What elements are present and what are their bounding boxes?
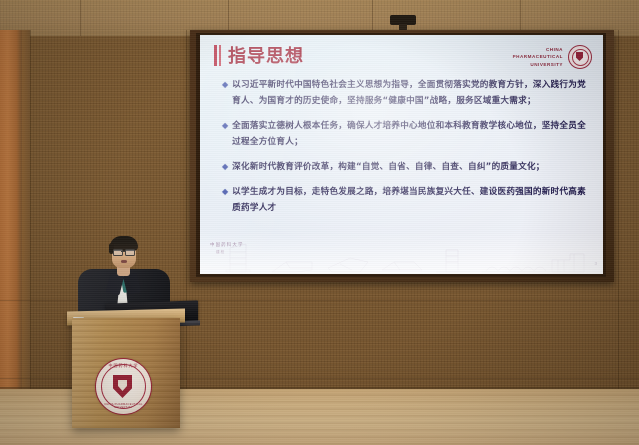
list-item: ◆ 全面落实立德树人根本任务，确保人才培养中心地位和本科教育教学核心地位，坚持全… (222, 118, 587, 150)
lectern-university-emblem: 中国药科大学 CHINA PHARMACEUTICAL UNIVERSITY (95, 358, 152, 415)
ceiling-camera-icon (390, 15, 416, 25)
brand-line-2: PHARMACEUTICAL (513, 53, 563, 60)
campus-skyline-watermark (200, 228, 603, 274)
diamond-bullet-icon: ◆ (222, 159, 228, 174)
list-item: ◆ 深化新时代教育评价改革，构建“自觉、自省、自律、自查、自纠”的质量文化； (222, 159, 587, 175)
wall-seam (80, 0, 81, 36)
list-item: ◆ 以习近平新时代中国特色社会主义思想为指导，全面贯彻落实党的教育方针，深入践行… (222, 77, 587, 109)
eyeglasses-bridge (121, 251, 125, 252)
list-item-text: 全面落实立德树人根本任务，确保人才培养中心地位和本科教育教学核心地位，坚持全员全… (232, 118, 587, 150)
projection-screen: 指导思想 CHINA PHARMACEUTICAL UNIVERSITY ◆ 以… (200, 35, 603, 274)
wall-panel-seam (186, 30, 187, 425)
slide-bullet-list: ◆ 以习近平新时代中国特色社会主义思想为指导，全面贯彻落实党的教育方针，深入践行… (222, 77, 587, 225)
watermark-name: 中国药科大学 (210, 242, 244, 248)
emblem-bottom-text: CHINA PHARMACEUTICAL UNIVERSITY (96, 403, 151, 409)
watermark-subtext: 建校 (216, 250, 225, 255)
list-item-text: 深化新时代教育评价改革，构建“自觉、自省、自律、自查、自纠”的质量文化； (232, 159, 545, 175)
list-item-text: 以学生成才为目标，走特色发展之路，培养堪当民族复兴大任、建设医药强国的新时代高素… (232, 184, 587, 216)
emblem-shield-icon (113, 375, 132, 398)
wall-accent-strip-shadow (22, 30, 30, 425)
list-item-text: 以习近平新时代中国特色社会主义思想为指导，全面贯彻落实党的教育方针，深入践行为党… (232, 77, 587, 109)
diamond-bullet-icon: ◆ (222, 184, 228, 199)
wall-panel-seam (30, 30, 31, 425)
wall-panel-seam (618, 30, 619, 425)
diamond-bullet-icon: ◆ (222, 77, 228, 92)
university-brand: CHINA PHARMACEUTICAL UNIVERSITY (513, 45, 592, 69)
diamond-bullet-icon: ◆ (222, 118, 228, 133)
presentation-slide: 指导思想 CHINA PHARMACEUTICAL UNIVERSITY ◆ 以… (200, 35, 603, 274)
slide-page-number: 3 (594, 261, 597, 266)
brand-text-block: CHINA PHARMACEUTICAL UNIVERSITY (513, 46, 563, 67)
lecture-hall-photo: 指导思想 CHINA PHARMACEUTICAL UNIVERSITY ◆ 以… (0, 0, 639, 445)
list-item: ◆ 以学生成才为目标，走特色发展之路，培养堪当民族复兴大任、建设医药强国的新时代… (222, 184, 587, 216)
emblem-top-text: 中国药科大学 (96, 363, 151, 369)
speaker-mouth (121, 260, 127, 263)
brand-line-3: UNIVERSITY (513, 61, 563, 68)
title-accent-bars (214, 45, 221, 66)
slide-title-row: 指导思想 (214, 42, 304, 68)
screen-bottom-glare (200, 232, 603, 274)
eyeglasses-right-lens (125, 249, 135, 256)
wall-accent-strip (0, 30, 22, 425)
brand-line-1: CHINA (513, 46, 563, 53)
page-title: 指导思想 (228, 42, 304, 68)
university-seal-icon (568, 45, 592, 69)
